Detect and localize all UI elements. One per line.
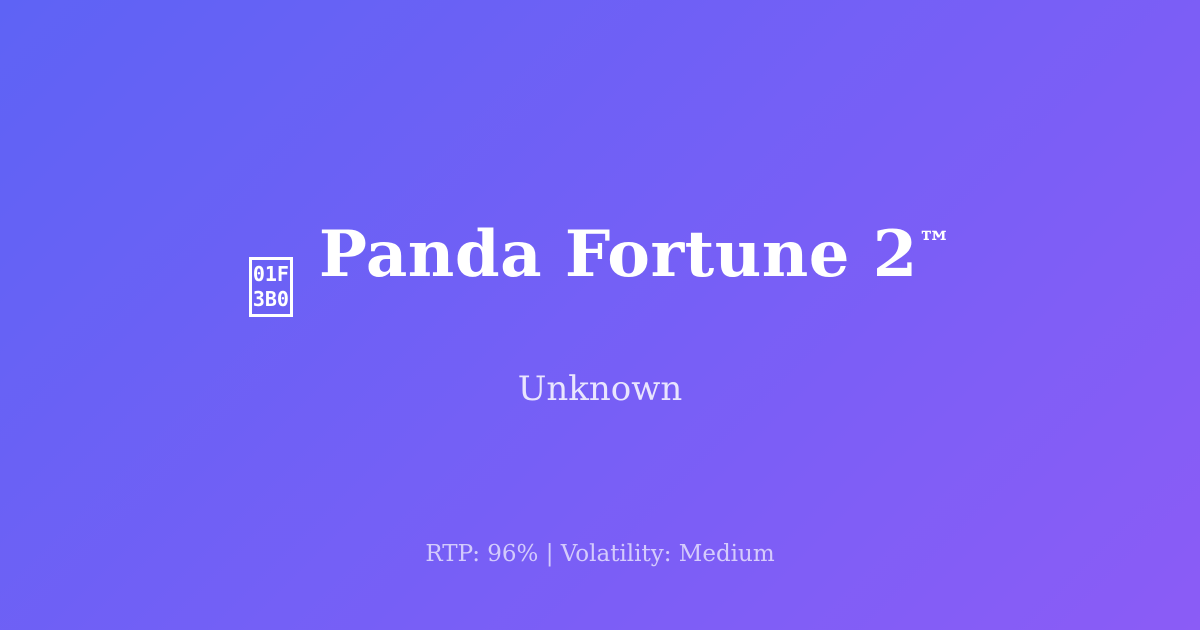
slot-machine-icon: 01F 3B0 [249, 257, 293, 317]
tofu-codepoint-lower: 3B0 [253, 287, 289, 312]
og-share-card: 01F 3B0 Panda Fortune 2™ Unknown RTP: 96… [0, 0, 1200, 630]
tofu-codepoint-upper: 01F [253, 262, 289, 287]
title-row: 01F 3B0 Panda Fortune 2™ [249, 180, 951, 330]
trademark-symbol: ™ [918, 224, 951, 263]
subtitle: Unknown [518, 372, 683, 406]
page-title: Panda Fortune 2™ [319, 223, 951, 287]
hero-group: 01F 3B0 Panda Fortune 2™ Unknown [0, 180, 1200, 407]
page-title-text: Panda Fortune 2 [319, 217, 918, 292]
game-stats-line: RTP: 96% | Volatility: Medium [0, 543, 1200, 566]
